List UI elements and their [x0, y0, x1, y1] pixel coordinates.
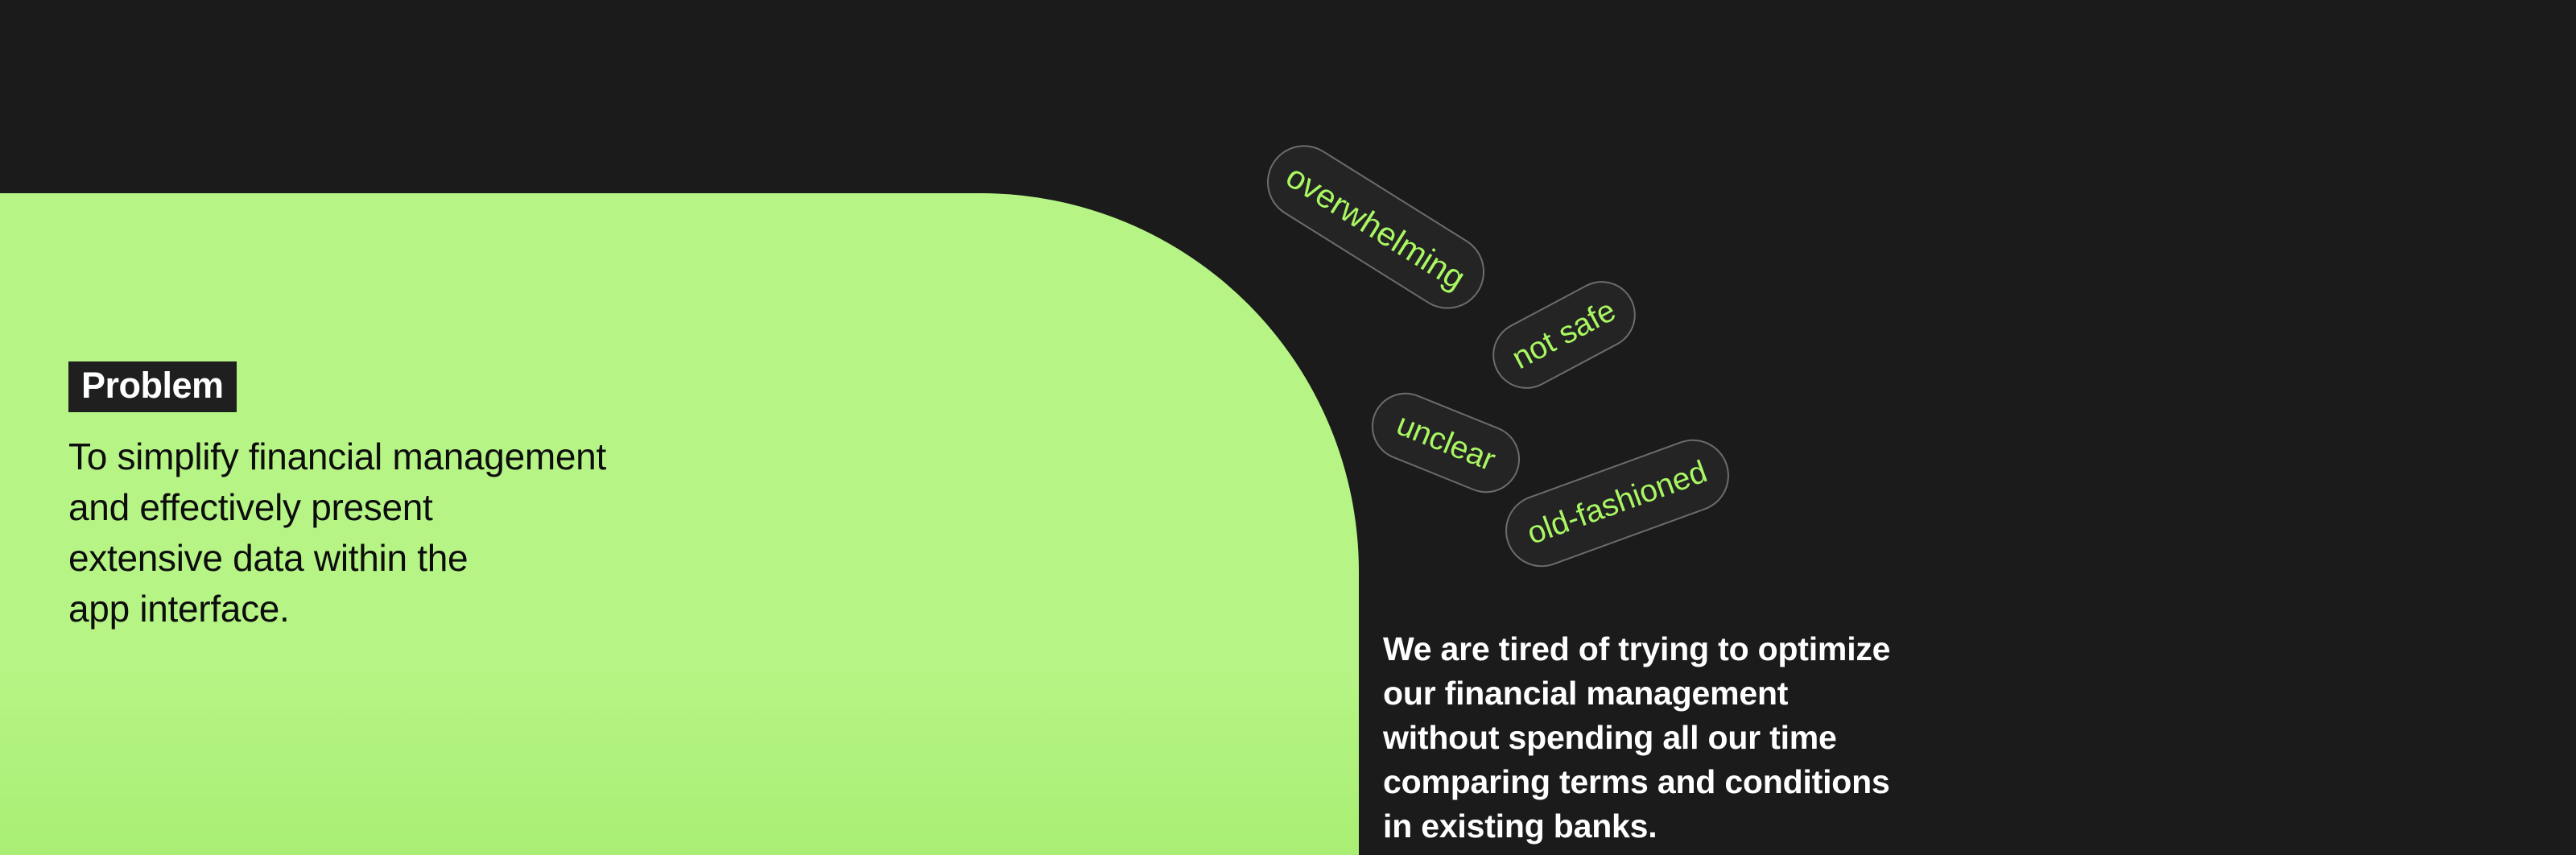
- tag-pill-not-safe[interactable]: not safe: [1480, 269, 1647, 400]
- tag-pill-label: overwhelming: [1279, 157, 1472, 297]
- tag-pill-label: old-fashioned: [1522, 454, 1711, 551]
- tag-pill-label: not safe: [1506, 293, 1621, 377]
- problem-badge: Problem: [68, 361, 237, 412]
- tag-pill-old-fashioned[interactable]: old-fashioned: [1495, 429, 1739, 577]
- tag-pill-unclear[interactable]: unclear: [1361, 382, 1529, 503]
- problem-headline: To simplify financial management and eff…: [68, 432, 680, 634]
- tag-pill-label: unclear: [1391, 407, 1500, 479]
- problem-section: Problem To simplify financial management…: [0, 0, 2576, 855]
- problem-quote: We are tired of trying to optimize our f…: [1383, 627, 2043, 849]
- tag-pill-overwhelming[interactable]: overwhelming: [1253, 131, 1499, 323]
